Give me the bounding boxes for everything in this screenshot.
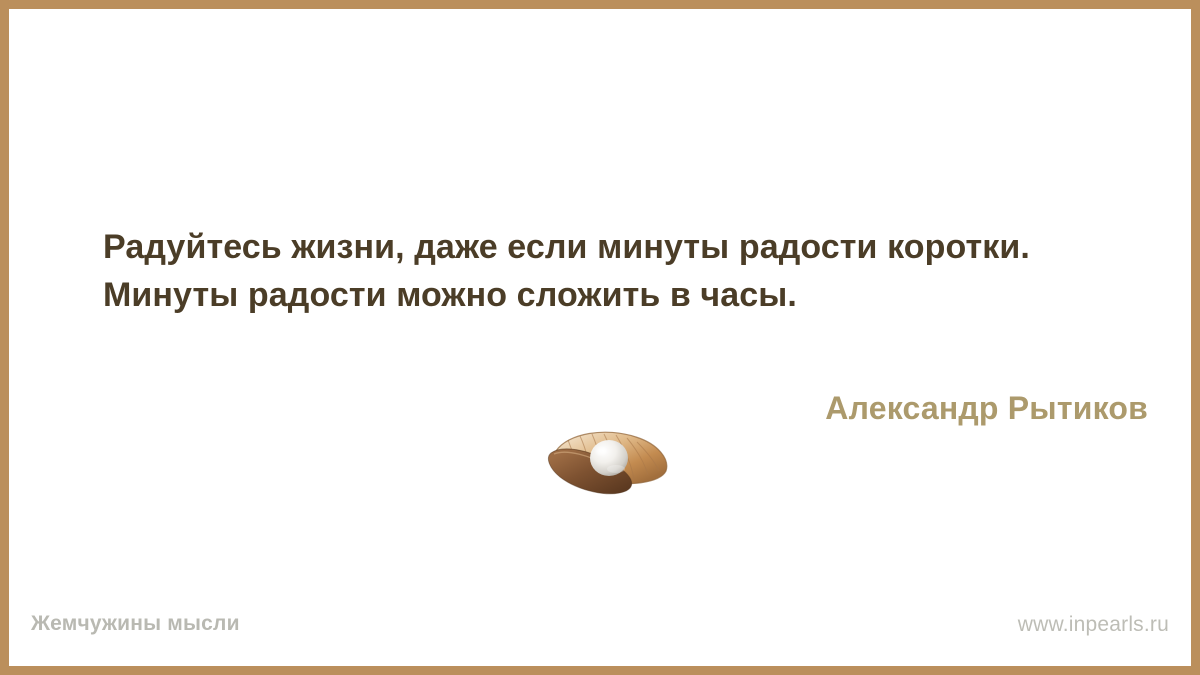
quote-card: Радуйтесь жизни, даже если минуты радост… [0,0,1200,675]
quote-text: Радуйтесь жизни, даже если минуты радост… [103,223,1115,319]
oyster-shell-with-pearl-icon [540,425,672,497]
footer-url[interactable]: www.inpearls.ru [1018,613,1169,637]
footer-brand: Жемчужины мысли [31,612,240,636]
footer: Жемчужины мысли www.inpearls.ru [9,612,1191,640]
quote-author: Александр Рытиков [825,390,1148,427]
